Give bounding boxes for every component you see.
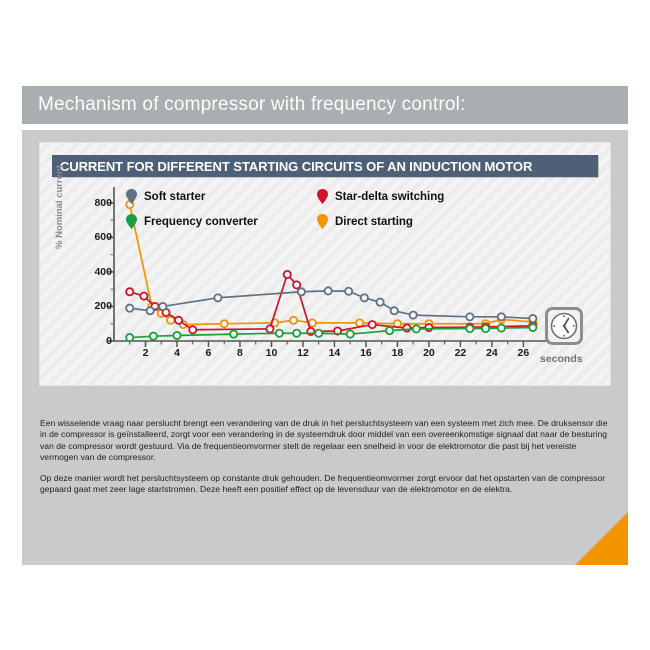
y-tick-label: 400 (94, 266, 112, 278)
legend-item-soft-starter[interactable]: Soft starter (126, 189, 205, 204)
pin-icon (317, 214, 328, 229)
x-tick-label: 26 (518, 347, 530, 359)
y-axis-label: % Nominal current (54, 165, 65, 249)
legend-item-star-delta-switching[interactable]: Star-delta switching (317, 189, 444, 204)
pin-icon (317, 189, 328, 204)
paragraph-2: Op deze manier wordt het persluchtsystee… (40, 473, 612, 496)
paragraph-1: Een wisselende vraag naar perslucht bren… (40, 418, 612, 464)
y-axis-ticks: 0200400600800 (68, 181, 112, 341)
clock-icon (545, 307, 583, 345)
chart-plot-area: Soft starter Frequency converter Star-de… (40, 181, 610, 385)
y-tick-label: 600 (94, 231, 112, 243)
x-tick-label: 20 (423, 347, 435, 359)
x-tick-label: 14 (329, 347, 341, 359)
legend-label: Soft starter (144, 191, 205, 203)
legend-label: Frequency converter (144, 216, 258, 228)
chart-title-bar: CURRENT FOR DIFFERENT STARTING CIRCUITS … (52, 155, 598, 177)
x-tick-label: 12 (297, 347, 309, 359)
x-tick-label: 18 (392, 347, 404, 359)
chart-card: CURRENT FOR DIFFERENT STARTING CIRCUITS … (40, 143, 610, 385)
page-title: Mechanism of compressor with frequency c… (22, 94, 466, 116)
y-tick-label: 800 (94, 197, 112, 209)
x-tick-label: 8 (237, 347, 243, 359)
corner-triangle-decoration (575, 512, 628, 565)
x-tick-label: 16 (360, 347, 372, 359)
x-axis-unit-label: seconds (540, 353, 583, 365)
x-tick-label: 6 (206, 347, 212, 359)
chart-title: CURRENT FOR DIFFERENT STARTING CIRCUITS … (52, 159, 532, 174)
x-tick-label: 4 (174, 347, 180, 359)
x-tick-label: 10 (266, 347, 278, 359)
legend-label: Direct starting (335, 216, 413, 228)
legend-item-frequency-converter[interactable]: Frequency converter (126, 214, 258, 229)
x-axis-ticks: 2468101214161820222426 (40, 341, 610, 361)
slide-header-bar: Mechanism of compressor with frequency c… (22, 86, 628, 124)
body-text: Een wisselende vraag naar perslucht bren… (40, 418, 612, 504)
slide-page: Mechanism of compressor with frequency c… (0, 0, 650, 650)
legend-label: Star-delta switching (335, 191, 444, 203)
pin-icon (126, 214, 137, 229)
y-tick-label: 200 (94, 300, 112, 312)
pin-icon (126, 189, 137, 204)
chart-legend: Soft starter Frequency converter Star-de… (40, 181, 610, 233)
x-tick-label: 22 (455, 347, 467, 359)
legend-item-direct-starting[interactable]: Direct starting (317, 214, 413, 229)
x-tick-label: 2 (143, 347, 149, 359)
x-tick-label: 24 (486, 347, 498, 359)
